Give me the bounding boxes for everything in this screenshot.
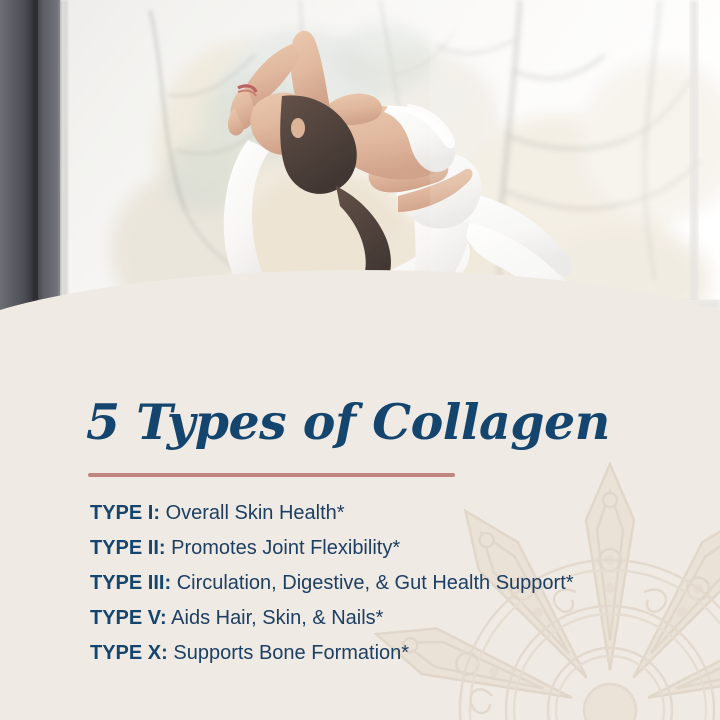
- collagen-type-list: TYPE I: Overall Skin Health* TYPE II: Pr…: [90, 496, 690, 671]
- type-label: TYPE V:: [90, 607, 167, 629]
- list-item: TYPE X: Supports Bone Formation*: [90, 636, 690, 671]
- type-description: Promotes Joint Flexibility*: [171, 537, 400, 559]
- type-label: TYPE X:: [90, 642, 168, 664]
- list-item: TYPE I: Overall Skin Health*: [90, 496, 690, 531]
- type-label: TYPE II:: [90, 537, 166, 559]
- list-item: TYPE III: Circulation, Digestive, & Gut …: [90, 566, 690, 601]
- type-description: Circulation, Digestive, & Gut Health Sup…: [177, 572, 574, 594]
- list-item: TYPE V: Aids Hair, Skin, & Nails*: [90, 601, 690, 636]
- type-description: Supports Bone Formation*: [173, 642, 409, 664]
- title-underline-rule: [88, 473, 455, 477]
- type-label: TYPE III:: [90, 572, 171, 594]
- collagen-infographic-poster: 5 Types of Collagen TYPE I: Overall Skin…: [0, 0, 720, 720]
- type-label: TYPE I:: [90, 502, 160, 524]
- list-item: TYPE II: Promotes Joint Flexibility*: [90, 531, 690, 566]
- type-description: Aids Hair, Skin, & Nails*: [171, 607, 383, 629]
- text-content: 5 Types of Collagen TYPE I: Overall Skin…: [0, 0, 720, 720]
- page-title: 5 Types of Collagen: [86, 398, 610, 447]
- type-description: Overall Skin Health*: [166, 502, 345, 524]
